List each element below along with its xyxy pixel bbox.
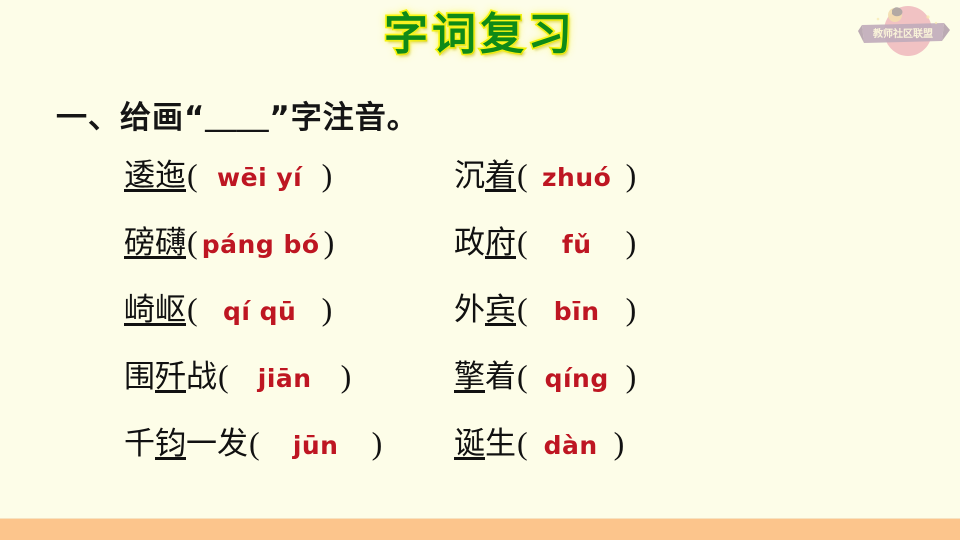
hanzi-plain-tail: 着 (485, 359, 516, 394)
hanzi-text: 政府 (454, 217, 516, 262)
hanzi-underlined: 磅礴 (124, 225, 186, 260)
paren-open: ( (516, 224, 529, 261)
pinyin-answer: wēi yí (199, 163, 321, 192)
paren-open: ( (516, 291, 529, 328)
table-row: 围歼战 ( jiān ) 擎着 ( qíng ) (124, 351, 764, 418)
paren-close: ) (625, 291, 638, 328)
hanzi-text: 外宾 (454, 284, 516, 329)
word-item-qianjunyifa[interactable]: 千钧一发 ( jūn ) (124, 418, 454, 463)
hanzi-plain: 沉 (454, 158, 485, 193)
hanzi-plain: 政 (454, 225, 485, 260)
paren-open: ( (516, 157, 529, 194)
word-item-dansheng[interactable]: 诞生 ( dàn ) (454, 418, 754, 463)
hanzi-plain: 千 (124, 426, 155, 461)
hanzi-plain-tail: 战 (186, 359, 217, 394)
hanzi-plain-tail: 一发 (186, 426, 248, 461)
hanzi-text: 沉着 (454, 150, 516, 195)
hanzi-text: 擎着 (454, 351, 516, 396)
word-pinyin-grid: 逶迤 ( wēi yí ) 沉着 ( zhuó ) 磅礴 ( páng bó )… (124, 150, 764, 485)
word-item-chenzhuo[interactable]: 沉着 ( zhuó ) (454, 150, 754, 195)
paren-close: ) (625, 224, 638, 261)
pinyin-answer: dàn (529, 431, 613, 460)
pinyin-answer: zhuó (529, 163, 625, 192)
word-item-weiyi[interactable]: 逶迤 ( wēi yí ) (124, 150, 454, 195)
hanzi-plain: 围 (124, 359, 155, 394)
pinyin-answer: qí qū (199, 297, 321, 326)
paren-open: ( (516, 358, 529, 395)
word-item-pangbo[interactable]: 磅礴 ( páng bó ) (124, 217, 454, 262)
paren-open: ( (186, 157, 199, 194)
page-title: 字词复习 (384, 13, 576, 57)
slide-title-container: 字词复习 (0, 4, 960, 66)
paren-close: ) (371, 425, 384, 462)
hanzi-plain: 外 (454, 292, 485, 327)
pinyin-answer: jiān (230, 364, 340, 393)
paren-open: ( (516, 425, 529, 462)
pinyin-answer: jūn (261, 431, 371, 460)
paren-open: ( (217, 358, 230, 395)
hanzi-underlined: 宾 (485, 292, 516, 327)
paren-open: ( (248, 425, 261, 462)
hanzi-text: 千钧一发 (124, 418, 248, 463)
paren-open: ( (186, 291, 199, 328)
question-heading: 一、给画“＿＿”字注音。 (56, 92, 419, 137)
hanzi-plain-tail: 生 (485, 426, 516, 461)
table-row: 千钧一发 ( jūn ) 诞生 ( dàn ) (124, 418, 764, 485)
paren-close: ) (625, 157, 638, 194)
word-item-qingzhe[interactable]: 擎着 ( qíng ) (454, 351, 754, 396)
pinyin-answer: bīn (529, 297, 625, 326)
hanzi-text: 逶迤 (124, 150, 186, 195)
paren-close: ) (321, 157, 334, 194)
logo-ribbon-text: 教师社区联盟 (872, 27, 933, 40)
word-item-qiqu[interactable]: 崎岖 ( qí qū ) (124, 284, 454, 329)
paren-close: ) (321, 291, 334, 328)
paren-close: ) (625, 358, 638, 395)
slide-canvas: 字词复习 教师社区联盟 一、给画“＿＿”字注音。 逶迤 ( wēi yí ) (0, 0, 960, 540)
table-row: 逶迤 ( wēi yí ) 沉着 ( zhuó ) (124, 150, 764, 217)
word-item-waibin[interactable]: 外宾 ( bīn ) (454, 284, 754, 329)
pinyin-answer: qíng (529, 364, 625, 393)
word-item-zhengfu[interactable]: 政府 ( fǔ ) (454, 217, 754, 262)
paren-close: ) (340, 358, 353, 395)
table-row: 崎岖 ( qí qū ) 外宾 ( bīn ) (124, 284, 764, 351)
hanzi-underlined: 诞 (454, 426, 485, 461)
pinyin-answer: fǔ (529, 230, 625, 259)
paren-close: ) (613, 425, 626, 462)
pinyin-answer: páng bó (199, 230, 323, 259)
hanzi-underlined: 崎岖 (124, 292, 186, 327)
table-row: 磅礴 ( páng bó ) 政府 ( fǔ ) (124, 217, 764, 284)
hanzi-text: 磅礴 (124, 217, 186, 262)
paren-close: ) (323, 224, 336, 261)
hanzi-text: 崎岖 (124, 284, 186, 329)
hanzi-underlined: 府 (485, 225, 516, 260)
hanzi-underlined: 擎 (454, 359, 485, 394)
hanzi-text: 诞生 (454, 418, 516, 463)
hanzi-underlined: 歼 (155, 359, 186, 394)
teacher-community-alliance-badge-icon: 教师社区联盟 (856, 3, 952, 61)
bottom-decorative-band (0, 519, 960, 540)
hanzi-text: 围歼战 (124, 351, 217, 396)
paren-open: ( (186, 224, 199, 261)
hanzi-underlined: 着 (485, 158, 516, 193)
hanzi-underlined: 钧 (155, 426, 186, 461)
hanzi-underlined: 逶迤 (124, 158, 186, 193)
word-item-weijianzhan[interactable]: 围歼战 ( jiān ) (124, 351, 454, 396)
